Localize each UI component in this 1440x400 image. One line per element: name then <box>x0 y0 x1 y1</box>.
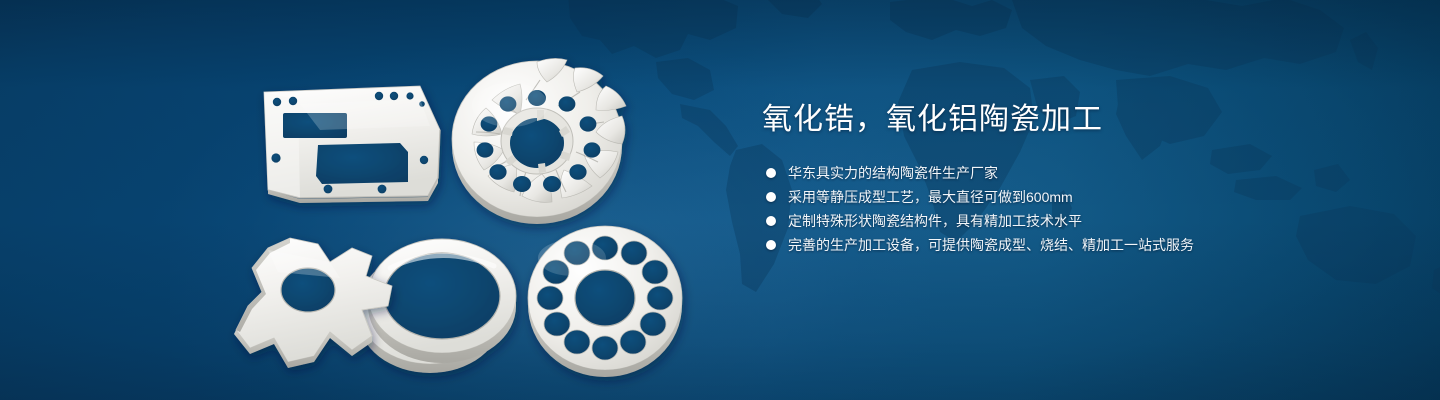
bullet-dot-icon <box>766 168 776 178</box>
ceramic-mounting-plate <box>264 86 440 203</box>
ceramic-products-image <box>0 0 720 400</box>
feature-item-1: 华东具实力的结构陶瓷件生产厂家 <box>766 166 1382 181</box>
feature-item-1-label: 华东具实力的结构陶瓷件生产厂家 <box>788 165 998 181</box>
feature-item-3-label: 定制特殊形状陶瓷结构件，具有精加工技术水平 <box>788 213 1082 229</box>
feature-item-3: 定制特殊形状陶瓷结构件，具有精加工技术水平 <box>766 214 1382 229</box>
ceramic-impeller-rotor <box>452 58 626 224</box>
ceramic-perforated-disc <box>528 226 682 377</box>
bullet-dot-icon <box>766 216 776 226</box>
banner-copy: 氧化锆，氧化铝陶瓷加工 华东具实力的结构陶瓷件生产厂家 采用等静压成型工艺，最大… <box>762 100 1382 253</box>
banner-headline: 氧化锆，氧化铝陶瓷加工 <box>762 100 1382 140</box>
feature-item-2-label: 采用等静压成型工艺，最大直径可做到600mm <box>788 189 1073 205</box>
feature-item-2: 采用等静压成型工艺，最大直径可做到600mm <box>766 190 1382 205</box>
bullet-dot-icon <box>766 192 776 202</box>
bullet-dot-icon <box>766 240 776 250</box>
feature-item-4: 完善的生产加工设备，可提供陶瓷成型、烧结、精加工一站式服务 <box>766 238 1382 253</box>
ceramic-cross-plate <box>234 238 392 368</box>
feature-list: 华东具实力的结构陶瓷件生产厂家 采用等静压成型工艺，最大直径可做到600mm 定… <box>766 166 1382 253</box>
feature-item-4-label: 完善的生产加工设备，可提供陶瓷成型、烧结、精加工一站式服务 <box>788 237 1194 253</box>
promo-banner: 氧化锆，氧化铝陶瓷加工 华东具实力的结构陶瓷件生产厂家 采用等静压成型工艺，最大… <box>0 0 1440 400</box>
